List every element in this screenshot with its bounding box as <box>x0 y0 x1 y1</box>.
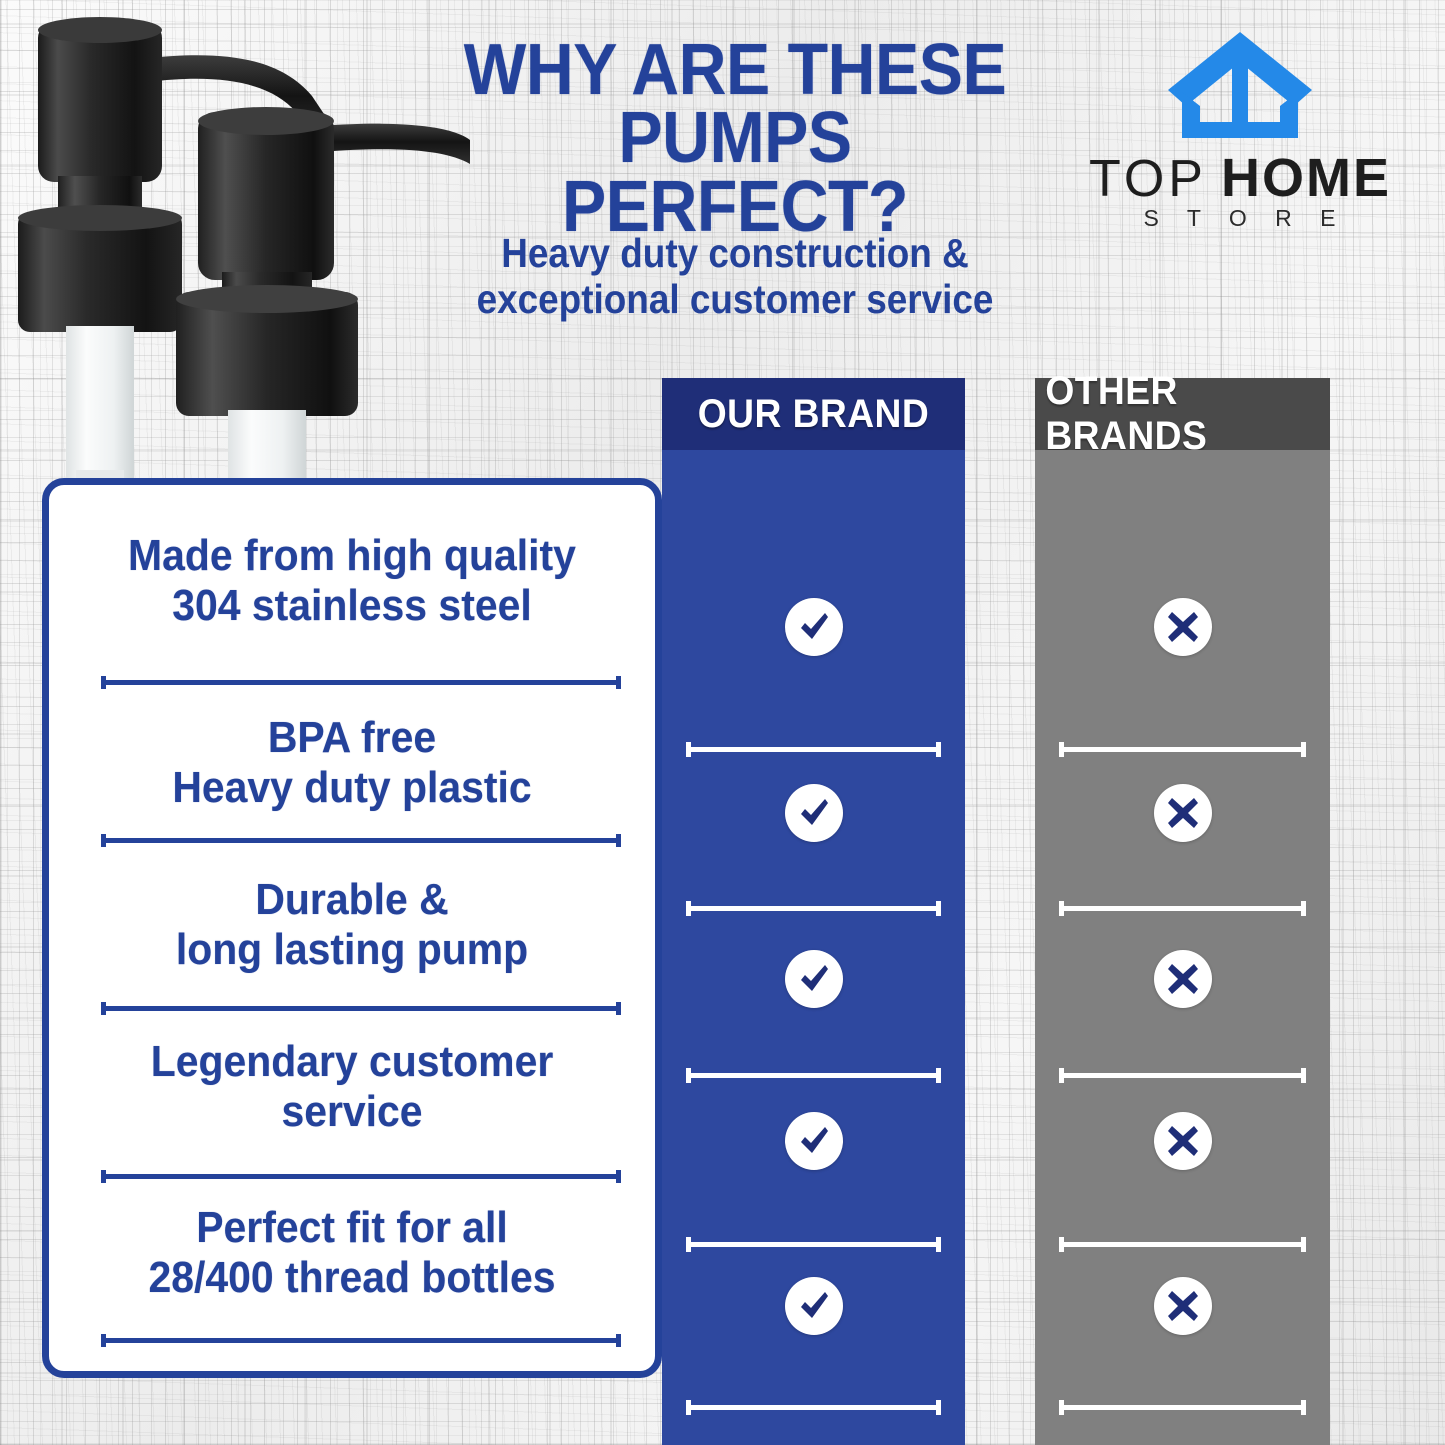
feature-row-5-line-2: 28/400 thread bottles <box>148 1253 555 1302</box>
check-icon <box>785 784 843 842</box>
comparison-column-our-brand: OUR BRAND <box>662 378 965 1445</box>
feature-row-1-line-2: 304 stainless steel <box>172 581 531 630</box>
logo-word-home: HOME <box>1221 148 1391 208</box>
column-divider-our-brand <box>686 1068 941 1082</box>
feature-row-4-line-1: Legendary customer <box>151 1037 554 1086</box>
cross-icon <box>1154 1112 1212 1170</box>
feature-row-3-line-2: long lasting pump <box>176 925 528 974</box>
logo-word-top: TOP <box>1089 150 1207 208</box>
column-divider-other-brands <box>1059 901 1306 915</box>
feature-row-5-line-1: Perfect fit for all <box>196 1203 508 1252</box>
feature-divider-2 <box>101 833 621 846</box>
feature-divider-3 <box>101 1001 621 1014</box>
feature-row-2-line-2: Heavy duty plastic <box>172 763 531 812</box>
logo-word-store: S T O R E <box>1060 205 1420 232</box>
page-subtitle-line-2: exceptional customer service <box>477 276 994 322</box>
feature-row-4: Legendary customer service <box>70 1037 634 1137</box>
black-soap-dispenser-pumps-photo <box>0 0 470 500</box>
brand-logo: TOPHOME S T O R E <box>1060 28 1420 232</box>
column-divider-other-brands <box>1059 1237 1306 1251</box>
feature-row-3-line-1: Durable & <box>255 875 448 924</box>
column-divider-other-brands <box>1059 742 1306 756</box>
feature-row-1: Made from high quality 304 stainless ste… <box>70 531 634 631</box>
column-header-other-brands: OTHER BRANDS <box>1035 378 1330 450</box>
cross-icon <box>1154 950 1212 1008</box>
column-divider-our-brand <box>686 1400 941 1414</box>
cross-icon <box>1154 1277 1212 1335</box>
column-body-other-brands <box>1035 450 1330 1445</box>
cross-icon <box>1154 598 1212 656</box>
feature-row-4-line-2: service <box>281 1087 422 1136</box>
column-header-other-brands-label: OTHER BRANDS <box>1045 369 1319 459</box>
column-body-our-brand <box>662 450 965 1445</box>
page-subtitle: Heavy duty construction & exceptional cu… <box>443 230 1028 323</box>
infographic-canvas: WHY ARE THESE PUMPS PERFECT? Heavy duty … <box>0 0 1445 1445</box>
page-title-line-2: PUMPS PERFECT? <box>445 104 1025 241</box>
page-title: WHY ARE THESE PUMPS PERFECT? <box>445 36 1025 241</box>
check-icon <box>785 1112 843 1170</box>
logo-wordmark: TOPHOME <box>1060 147 1420 209</box>
check-icon <box>785 950 843 1008</box>
feature-row-3: Durable & long lasting pump <box>70 875 634 975</box>
feature-divider-5 <box>101 1333 621 1346</box>
comparison-column-other-brands: OTHER BRANDS <box>1035 378 1330 1445</box>
column-divider-our-brand <box>686 1237 941 1251</box>
feature-row-2: BPA free Heavy duty plastic <box>70 713 634 813</box>
check-icon <box>785 598 843 656</box>
column-divider-other-brands <box>1059 1400 1306 1414</box>
column-header-our-brand-label: OUR BRAND <box>698 392 930 437</box>
feature-divider-4 <box>101 1169 621 1182</box>
column-header-our-brand: OUR BRAND <box>662 378 965 450</box>
cross-icon <box>1154 784 1212 842</box>
house-with-up-arrow-icon <box>1060 28 1420 145</box>
feature-list-panel: Made from high quality 304 stainless ste… <box>42 478 662 1378</box>
feature-row-1-line-1: Made from high quality <box>128 531 576 580</box>
column-divider-our-brand <box>686 742 941 756</box>
page-subtitle-line-1: Heavy duty construction & <box>501 230 968 276</box>
check-icon <box>785 1277 843 1335</box>
column-divider-our-brand <box>686 901 941 915</box>
feature-row-2-line-1: BPA free <box>268 713 436 762</box>
feature-row-5: Perfect fit for all 28/400 thread bottle… <box>70 1203 634 1303</box>
feature-divider-1 <box>101 675 621 688</box>
column-divider-other-brands <box>1059 1068 1306 1082</box>
